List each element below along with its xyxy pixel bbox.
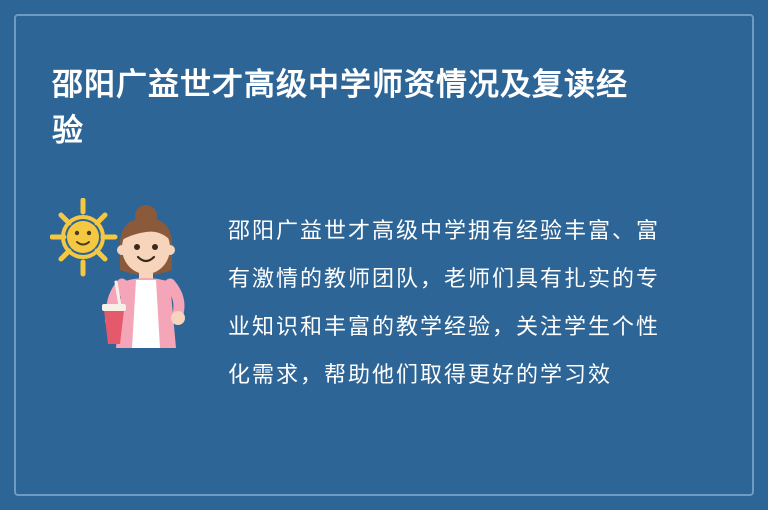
girl-with-drink-icon <box>102 205 185 348</box>
body-text: 邵阳广益世才高级中学拥有经验丰富、富有激情的教师团队，老师们具有扎实的专业知识和… <box>228 208 660 400</box>
illustration <box>50 198 210 368</box>
smiling-sun-icon <box>52 200 115 274</box>
poster-card: 邵阳广益世才高级中学师资情况及复读经验 <box>0 0 768 510</box>
page-title: 邵阳广益世才高级中学师资情况及复读经验 <box>52 62 652 154</box>
